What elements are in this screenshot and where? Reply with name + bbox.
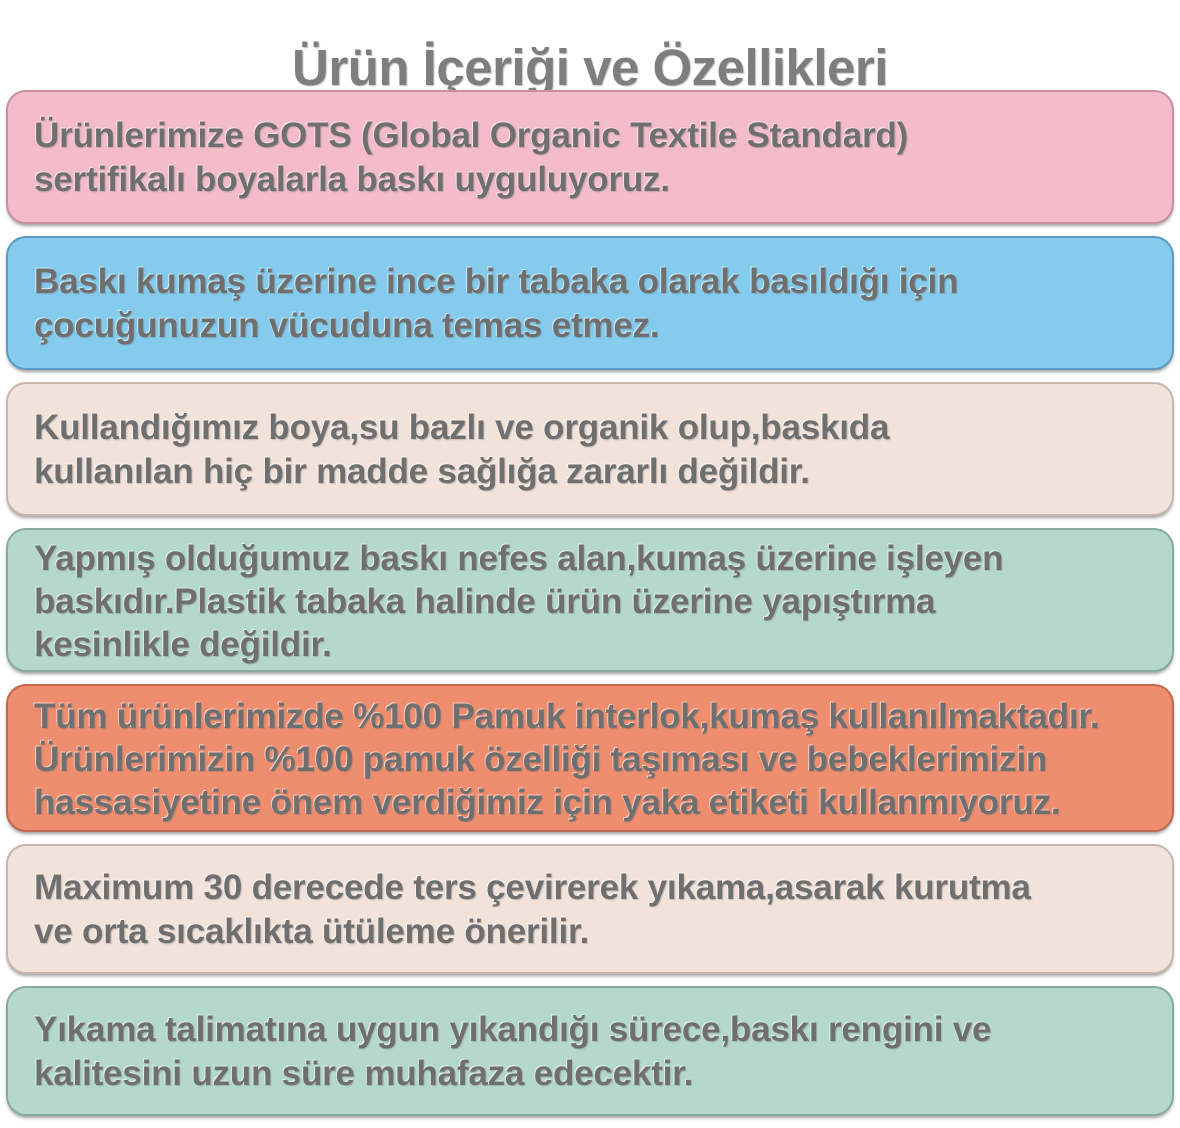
info-card-gots-certification: Ürünlerimize GOTS (Global Organic Textil… — [6, 90, 1174, 224]
info-card-text: Kullandığımız boya,su bazlı ve organik o… — [34, 406, 1150, 494]
info-card-text: Tüm ürünlerimizde %100 Pamuk interlok,ku… — [34, 695, 1150, 824]
info-card-text: Ürünlerimize GOTS (Global Organic Textil… — [34, 114, 1150, 202]
info-card-thin-layer-print: Baskı kumaş üzerine ince bir tabaka olar… — [6, 236, 1174, 370]
info-card-breathable-print: Yapmış olduğumuz baskı nefes alan,kumaş … — [6, 528, 1174, 672]
info-card-text: Yıkama talimatına uygun yıkandığı sürece… — [34, 1008, 1150, 1096]
info-card-text: Yapmış olduğumuz baskı nefes alan,kumaş … — [34, 537, 1150, 666]
info-card-cotton-interlock: Tüm ürünlerimizde %100 Pamuk interlok,ku… — [6, 684, 1174, 832]
info-card-text: Maximum 30 derecede ters çevirerek yıkam… — [34, 866, 1150, 954]
info-card-stack: Ürünlerimize GOTS (Global Organic Textil… — [6, 90, 1174, 1128]
product-info-infographic: Ürün İçeriği ve Özellikleri Ürünlerimize… — [0, 0, 1180, 1088]
info-card-washing-instructions: Maximum 30 derecede ters çevirerek yıkam… — [6, 844, 1174, 974]
info-card-text: Baskı kumaş üzerine ince bir tabaka olar… — [34, 260, 1150, 348]
info-card-water-based-organic-dye: Kullandığımız boya,su bazlı ve organik o… — [6, 382, 1174, 516]
info-card-print-durability: Yıkama talimatına uygun yıkandığı sürece… — [6, 986, 1174, 1116]
